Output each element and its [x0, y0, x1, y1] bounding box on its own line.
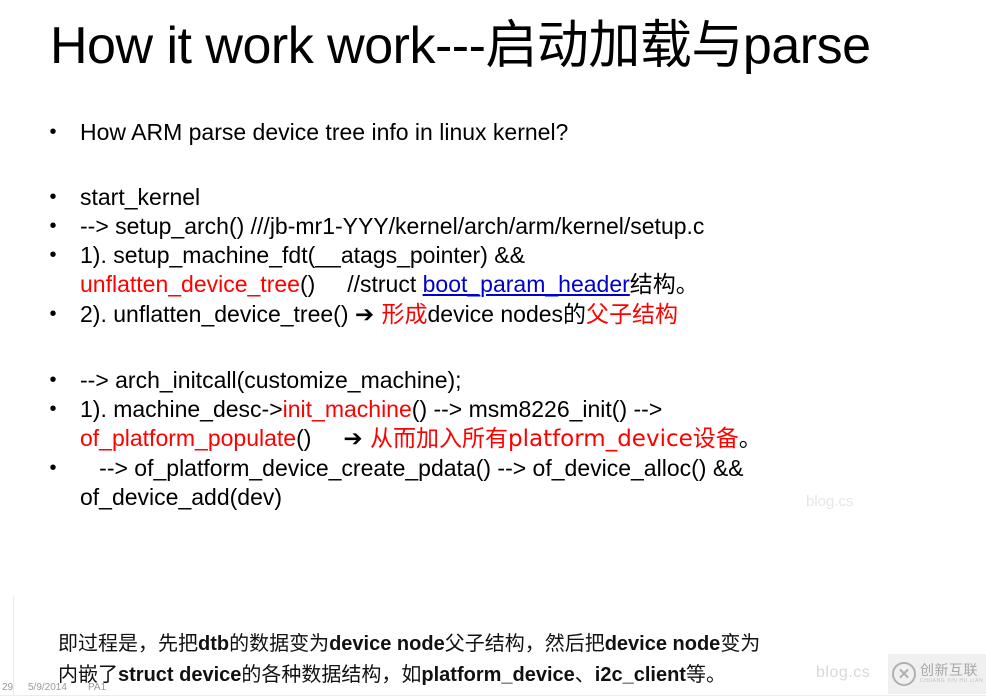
list-item: • start_kernel: [30, 183, 960, 212]
list-item-l2-red-b: 从而加入所有platform_device设备: [363, 426, 739, 452]
list-item-text-red-a: 形成: [374, 302, 427, 328]
note-l2-f: i2c_client: [595, 664, 686, 686]
right-arrow-icon: ➔: [355, 302, 374, 328]
blog-watermark-lower: blog.cs: [816, 664, 870, 682]
list-item-l1-b: () --> msm8226_init() -->: [412, 396, 662, 422]
bullet-dot-icon: •: [45, 300, 61, 329]
note-l1-b: dtb: [198, 633, 229, 655]
bullet-dot-icon: •: [45, 366, 61, 395]
note-l2-e: 、: [575, 662, 595, 686]
list-item-text-tail: 结构。: [630, 272, 699, 298]
list-item-l2-a: (): [296, 425, 343, 451]
list-item-text: --> arch_initcall(customize_machine);: [80, 367, 462, 393]
list-item: • 2). unflatten_device_tree() ➔ 形成device…: [30, 300, 960, 330]
note-l1-g: 变为: [720, 631, 760, 655]
list-item-text: start_kernel: [80, 184, 200, 210]
list-item: • --> setup_arch() ///jb-mr1-YYY/kernel/…: [30, 212, 960, 241]
slide-number: 29: [2, 682, 13, 693]
list-item-text-mid: () //struct: [300, 271, 423, 297]
right-arrow-icon: ➔: [343, 426, 362, 452]
list-item: • 1). setup_machine_fdt(__atags_pointer)…: [30, 241, 960, 300]
note-l1-c: 的数据变为: [229, 631, 329, 655]
bullet-dot-icon: •: [45, 395, 61, 424]
list-item-text-a: 2). unflatten_device_tree(): [80, 301, 355, 327]
watermark-logo-icon: ✕: [892, 662, 916, 686]
code-ref-init-machine: init_machine: [283, 396, 412, 422]
list-spacer: [30, 147, 960, 183]
title-cjk: 启动加载与: [485, 16, 743, 76]
hyperlink-boot-param-header[interactable]: boot_param_header: [423, 271, 630, 297]
watermark-cn-label: 创新互联: [920, 664, 983, 679]
bullet-dot-icon: •: [45, 118, 61, 147]
watermark-en-label: CHUANG XIN HU LIAN: [920, 679, 983, 684]
bullet-dot-icon: •: [45, 241, 61, 270]
list-spacer: [30, 330, 960, 366]
list-item-l2-b: 。: [739, 426, 762, 452]
slide-canvas: How it work work---启动加载与parse • How ARM …: [0, 0, 986, 696]
list-item-text: How ARM parse device tree info in linux …: [80, 119, 568, 145]
list-item-l1-a: 1). machine_desc->: [80, 396, 283, 422]
note-l1-a: 即过程是，先把: [58, 631, 198, 655]
list-item-line-1: 1). setup_machine_fdt(__atags_pointer) &…: [80, 242, 525, 268]
note-l1-d: device node: [329, 633, 445, 655]
note-l1-f: device node: [605, 633, 721, 655]
list-item-text-b: device nodes的: [427, 301, 586, 327]
slide-tag: PA1: [88, 682, 106, 693]
note-l2-g: 等。: [686, 662, 726, 686]
bullet-dot-icon: •: [45, 212, 61, 241]
watermark-text-group: 创新互联 CHUANG XIN HU LIAN: [920, 664, 983, 684]
page-title: How it work work---启动加载与parse: [50, 10, 950, 82]
bottom-note-line-1: 即过程是，先把dtb的数据变为device node父子结构，然后把device…: [58, 628, 958, 659]
code-ref-of-platform-populate: of_platform_populate: [80, 425, 296, 451]
list-item: • --> arch_initcall(customize_machine);: [30, 366, 960, 395]
list-item-line-2: of_device_add(dev): [80, 484, 282, 510]
list-item-line-1: --> of_platform_device_create_pdata() --…: [80, 455, 744, 481]
title-prefix: How it work work---: [50, 17, 485, 75]
slide-date: 5/9/2014: [28, 682, 67, 693]
bullet-dot-icon: •: [45, 183, 61, 212]
note-l2-d: platform_device: [421, 664, 574, 686]
list-item: • How ARM parse device tree info in linu…: [30, 118, 960, 147]
list-item-text: --> setup_arch() ///jb-mr1-YYY/kernel/ar…: [80, 213, 704, 239]
title-suffix: parse: [743, 17, 871, 75]
list-item-text-red-b: 父子结构: [586, 302, 678, 328]
bullet-dot-icon: •: [45, 454, 61, 483]
bullet-list: • How ARM parse device tree info in linu…: [30, 118, 960, 512]
code-ref-unflatten-device-tree: unflatten_device_tree: [80, 271, 300, 297]
list-item: • 1). machine_desc->init_machine() --> m…: [30, 395, 960, 454]
blog-watermark-upper: blog.cs: [806, 493, 854, 510]
frame-edge-left: [13, 596, 14, 696]
site-watermark: ✕ 创新互联 CHUANG XIN HU LIAN: [888, 654, 986, 694]
slide-footer: 29 5/9/2014 PA1: [0, 682, 300, 696]
note-l1-e: 父子结构，然后把: [445, 631, 605, 655]
